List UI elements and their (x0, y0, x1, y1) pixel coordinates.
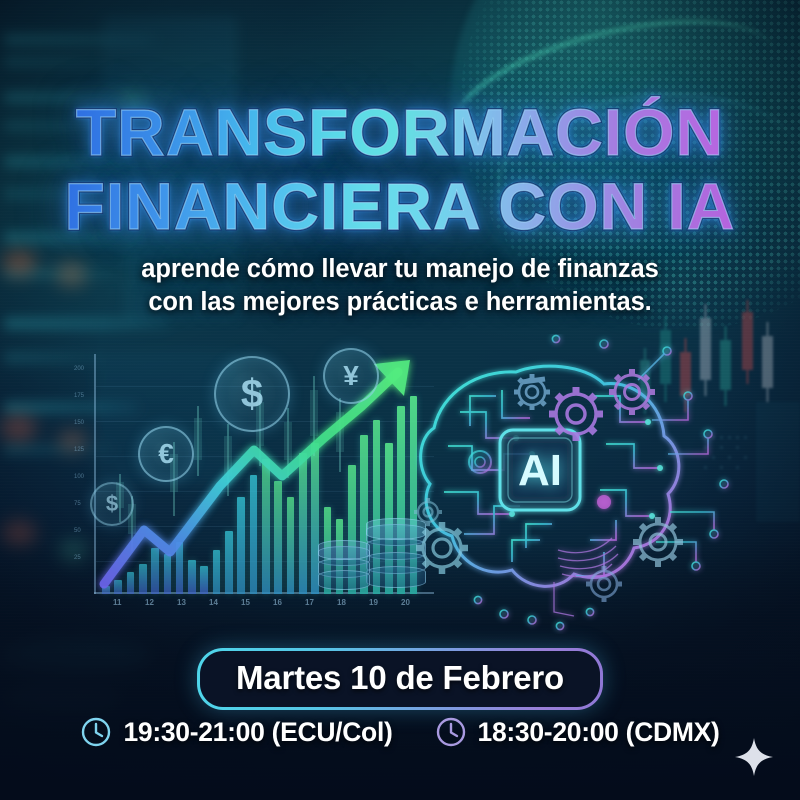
clock-icon (80, 716, 112, 748)
sparkle-icon (732, 735, 776, 779)
coin-symbol: ¥ (343, 360, 359, 392)
coin-symbol: € (158, 438, 174, 470)
currency-coin-dollar-large: $ (214, 356, 290, 432)
title-line-2-stroke: FINANCIERA CON IA (0, 170, 800, 242)
gear-icon-top-purple (609, 369, 655, 415)
time-label: 19:30-21:00 (ECU/Col) (123, 717, 392, 747)
clock-icon (435, 716, 467, 748)
currency-coin-dollar-small: $ (90, 482, 134, 526)
gear-icon-small-blue (514, 374, 550, 410)
date-label: Martes 10 de Febrero (236, 660, 564, 696)
coin-symbol: $ (106, 491, 118, 517)
title-line-2: FINANCIERA CON IA FINANCIERA CON IA FINA… (0, 170, 800, 242)
date-badge-inner: Martes 10 de Febrero (200, 651, 600, 707)
schedule-times: 19:30-21:00 (ECU/Col) 18:30-20:00 (CDMX) (0, 716, 800, 748)
title-line-1: TRANSFORMACIÓN TRANSFORMACIÓN TRANSFORMA… (0, 96, 800, 168)
title-line-1-stroke: TRANSFORMACIÓN (0, 96, 800, 168)
subtitle-line-2: con las mejores prácticas e herramientas… (0, 286, 800, 319)
illustration: 255075100125150175200 111213141516171819… (0, 330, 800, 640)
time-item-ecu-col: 19:30-21:00 (ECU/Col) (80, 716, 392, 748)
ai-brain-illustration: AI (408, 334, 780, 634)
date-badge: Martes 10 de Febrero (197, 648, 603, 710)
growth-chart: 255075100125150175200 111213141516171819… (78, 346, 438, 628)
currency-coin-euro: € (138, 426, 194, 482)
subtitle-line-1: aprende cómo llevar tu manejo de finanza… (0, 253, 800, 286)
currency-coin-yen: ¥ (323, 348, 379, 404)
coin-symbol: $ (241, 372, 263, 417)
ai-chip-label: AI (518, 446, 562, 495)
time-item-cdmx: 18:30-20:00 (CDMX) (435, 716, 720, 748)
gear-icon-bottom-left (416, 522, 468, 574)
poster-title: TRANSFORMACIÓN TRANSFORMACIÓN TRANSFORMA… (0, 96, 800, 242)
brain-circuit-svg: AI (408, 334, 780, 634)
gear-icon-mid-purple (549, 387, 603, 441)
time-label: 18:30-20:00 (CDMX) (478, 717, 720, 747)
poster-subtitle: aprende cómo llevar tu manejo de finanza… (0, 253, 800, 319)
promo-poster: TRANSFORMACIÓN TRANSFORMACIÓN TRANSFORMA… (0, 0, 800, 800)
